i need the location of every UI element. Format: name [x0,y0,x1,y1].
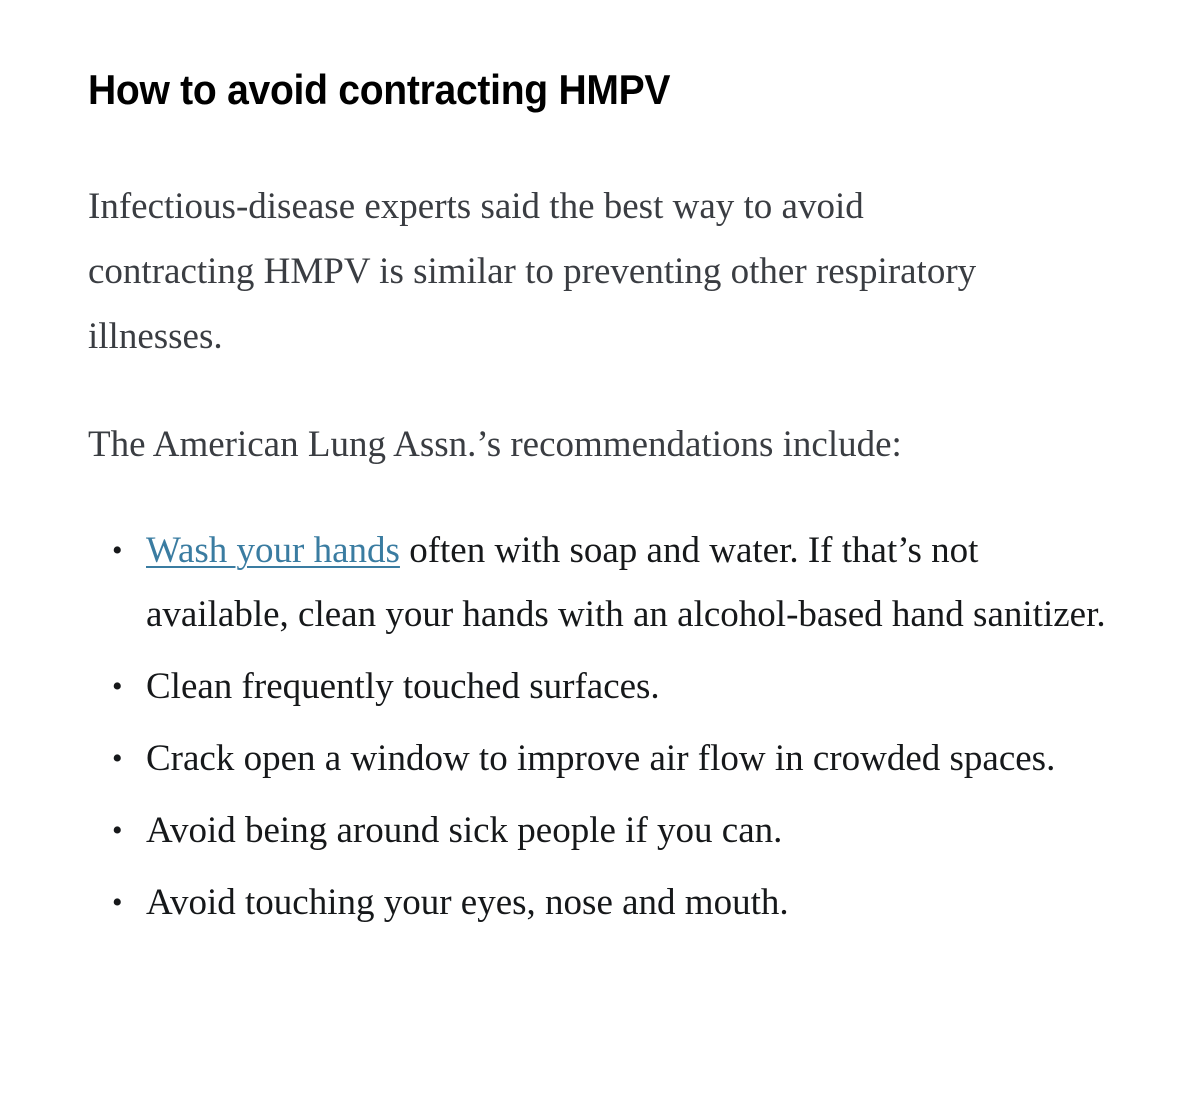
list-item-text: Crack open a window to improve air flow … [146,738,1055,779]
wash-your-hands-link[interactable]: Wash your hands [146,530,400,571]
bullet-icon: • [112,871,123,935]
list-item-text: Avoid touching your eyes, nose and mouth… [146,882,789,923]
intro-paragraph: Infectious-disease experts said the best… [88,114,988,369]
list-item-text: Clean frequently touched surfaces. [146,666,660,707]
list-item: • Crack open a window to improve air flo… [88,727,1106,791]
article-excerpt: How to avoid contracting HMPV Infectious… [88,0,1088,943]
bullet-icon: • [112,799,123,863]
list-item: • Avoid touching your eyes, nose and mou… [88,871,1106,935]
bullet-icon: • [112,655,123,719]
list-item: • Clean frequently touched surfaces. [88,655,1106,719]
list-item: • Avoid being around sick people if you … [88,799,1106,863]
bullet-icon: • [112,519,123,583]
recommendations-lead-in-paragraph: The American Lung Assn.’s recommendation… [88,369,1048,477]
recommendation-list: • Wash your hands often with soap and wa… [88,477,1088,935]
page-title: How to avoid contracting HMPV [88,0,1018,114]
list-item: • Wash your hands often with soap and wa… [88,519,1106,647]
bullet-icon: • [112,727,123,791]
list-item-text: Avoid being around sick people if you ca… [146,810,782,851]
